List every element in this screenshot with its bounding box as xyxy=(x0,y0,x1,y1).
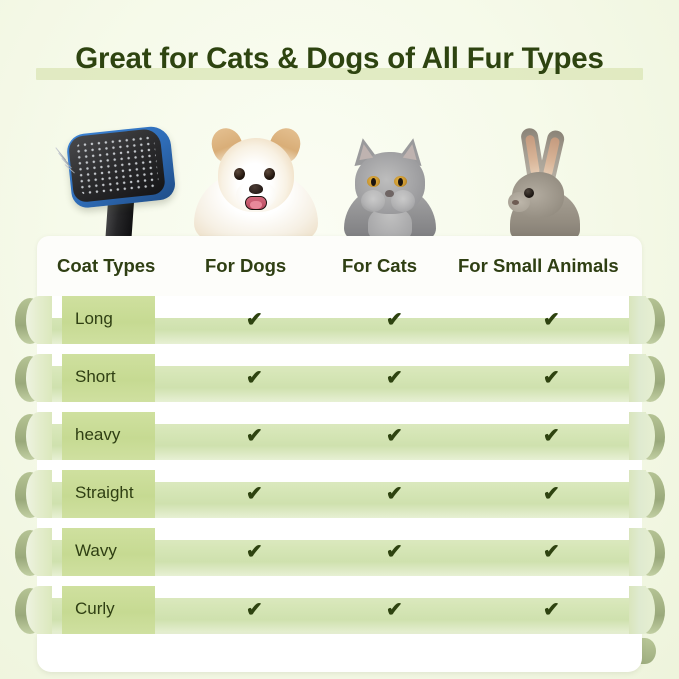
ribbon-fold-left xyxy=(26,528,52,576)
check-straight-dogs: ✔ xyxy=(246,480,263,508)
check-curly-dogs: ✔ xyxy=(246,596,263,624)
ribbon-fold-right xyxy=(629,412,655,460)
brush-pad xyxy=(68,128,166,203)
column-header-for-dogs: For Dogs xyxy=(205,255,286,277)
check-heavy-small: ✔ xyxy=(543,422,560,450)
row-label-long: Long xyxy=(75,309,113,329)
dog-eye-left xyxy=(234,168,245,180)
table-header-row: Coat Types For Dogs For Cats For Small A… xyxy=(37,236,642,296)
check-heavy-dogs: ✔ xyxy=(246,422,263,450)
rabbit-eye xyxy=(524,188,534,198)
check-straight-small: ✔ xyxy=(543,480,560,508)
cat-pupil-left xyxy=(371,178,376,186)
check-long-small: ✔ xyxy=(543,306,560,334)
cat-nose xyxy=(385,190,394,197)
check-wavy-dogs: ✔ xyxy=(246,538,263,566)
coat-type-compatibility-table: Coat Types For Dogs For Cats For Small A… xyxy=(0,236,679,656)
cat-inner-ear-right xyxy=(403,143,419,160)
row-label-short: Short xyxy=(75,367,116,387)
check-long-cats: ✔ xyxy=(386,306,403,334)
cat-inner-ear-left xyxy=(357,143,373,160)
column-header-coat-types: Coat Types xyxy=(57,255,155,277)
ribbon-fold-right xyxy=(629,296,655,344)
ribbon-fold-left xyxy=(26,296,52,344)
check-long-dogs: ✔ xyxy=(246,306,263,334)
table-footer xyxy=(37,634,642,672)
ribbon-fold-right xyxy=(629,586,655,634)
slicker-brush-image xyxy=(55,118,195,240)
check-short-cats: ✔ xyxy=(386,364,403,392)
row-label-straight: Straight xyxy=(75,483,134,503)
grey-cat-image xyxy=(338,130,442,240)
pet-image-strip xyxy=(0,118,679,240)
ribbon-fold-right xyxy=(629,470,655,518)
ribbon-fold-right xyxy=(629,528,655,576)
check-wavy-small: ✔ xyxy=(543,538,560,566)
check-curly-small: ✔ xyxy=(543,596,560,624)
ribbon-fold-left xyxy=(26,412,52,460)
check-curly-cats: ✔ xyxy=(386,596,403,624)
check-wavy-cats: ✔ xyxy=(386,538,403,566)
row-label-curly: Curly xyxy=(75,599,115,619)
page-title-block: Great for Cats & Dogs of All Fur Types xyxy=(0,38,679,80)
dog-nose xyxy=(249,184,263,194)
check-heavy-cats: ✔ xyxy=(386,422,403,450)
cat-pupil-right xyxy=(398,178,403,186)
pomeranian-dog-image xyxy=(192,122,320,240)
brush-pins xyxy=(74,134,159,196)
ribbon-fold-left xyxy=(26,470,52,518)
ribbon-fold-left xyxy=(26,354,52,402)
cat-cheek-right xyxy=(391,190,415,212)
brush-head xyxy=(65,125,176,209)
rabbit-nose xyxy=(512,200,519,205)
page-title: Great for Cats & Dogs of All Fur Types xyxy=(75,38,603,80)
row-label-heavy: heavy xyxy=(75,425,120,445)
dog-eye-right xyxy=(264,168,275,180)
row-label-wavy: Wavy xyxy=(75,541,117,561)
check-straight-cats: ✔ xyxy=(386,480,403,508)
dog-tongue xyxy=(250,201,262,209)
column-header-for-cats: For Cats xyxy=(342,255,417,277)
rabbit-image xyxy=(498,130,594,240)
cat-cheek-left xyxy=(361,190,385,212)
check-short-small: ✔ xyxy=(543,364,560,392)
ribbon-fold-right xyxy=(629,354,655,402)
column-header-for-small-animals: For Small Animals xyxy=(458,255,619,277)
check-short-dogs: ✔ xyxy=(246,364,263,392)
ribbon-fold-left xyxy=(26,586,52,634)
